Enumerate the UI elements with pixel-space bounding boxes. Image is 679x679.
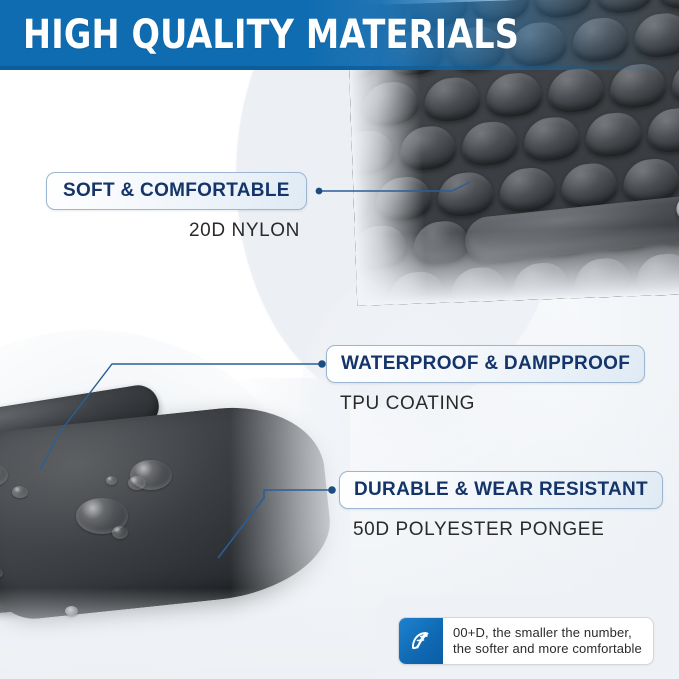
fabric-feather-icon [399, 618, 443, 664]
pad-cell [485, 70, 542, 119]
water-droplet [106, 476, 117, 485]
header-banner-underline [0, 66, 679, 70]
pad-cell [424, 75, 481, 124]
water-droplet [128, 476, 146, 490]
callout-waterproof-dampproof[interactable]: WATERPROOF & DAMPPROOF TPU COATING [326, 345, 645, 415]
photo-fade-bottom [355, 224, 679, 306]
pad-cell [461, 119, 518, 168]
callout-chip-soft: SOFT & COMFORTABLE [46, 172, 307, 210]
pad-cell [499, 165, 556, 214]
callout-sub-durable: 50D POLYESTER PONGEE [353, 519, 663, 541]
product-infographic: HIGH QUALITY MATERIALS SOFT & COMFORTABL… [0, 0, 679, 679]
page-title: HIGH QUALITY MATERIALS [23, 13, 519, 57]
product-photo-bottom-left [0, 378, 350, 648]
footer-note[interactable]: 00+D, the smaller the number, the softer… [398, 617, 654, 665]
footer-note-line2: the softer and more comfortable [453, 641, 642, 657]
pad-cell [547, 66, 604, 115]
callout-soft-comfortable[interactable]: SOFT & COMFORTABLE 20D NYLON [46, 172, 307, 242]
pad-cell [585, 110, 642, 159]
pad-cell [523, 115, 580, 164]
pad-cell [561, 161, 618, 210]
pad-cell [647, 106, 679, 155]
callout-sub-soft: 20D NYLON [189, 220, 307, 242]
water-droplet [12, 486, 28, 498]
callout-durable-wear-resistant[interactable]: DURABLE & WEAR RESISTANT 50D POLYESTER P… [339, 471, 663, 541]
callout-sub-waterproof: TPU COATING [340, 393, 645, 415]
photo-fade-bottom [0, 588, 350, 648]
footer-note-text: 00+D, the smaller the number, the softer… [443, 618, 653, 664]
water-droplet [112, 526, 128, 539]
footer-note-line1: 00+D, the smaller the number, [453, 625, 642, 641]
callout-chip-durable: DURABLE & WEAR RESISTANT [339, 471, 663, 509]
callout-chip-waterproof: WATERPROOF & DAMPPROOF [326, 345, 645, 383]
pad-cell [437, 170, 494, 219]
